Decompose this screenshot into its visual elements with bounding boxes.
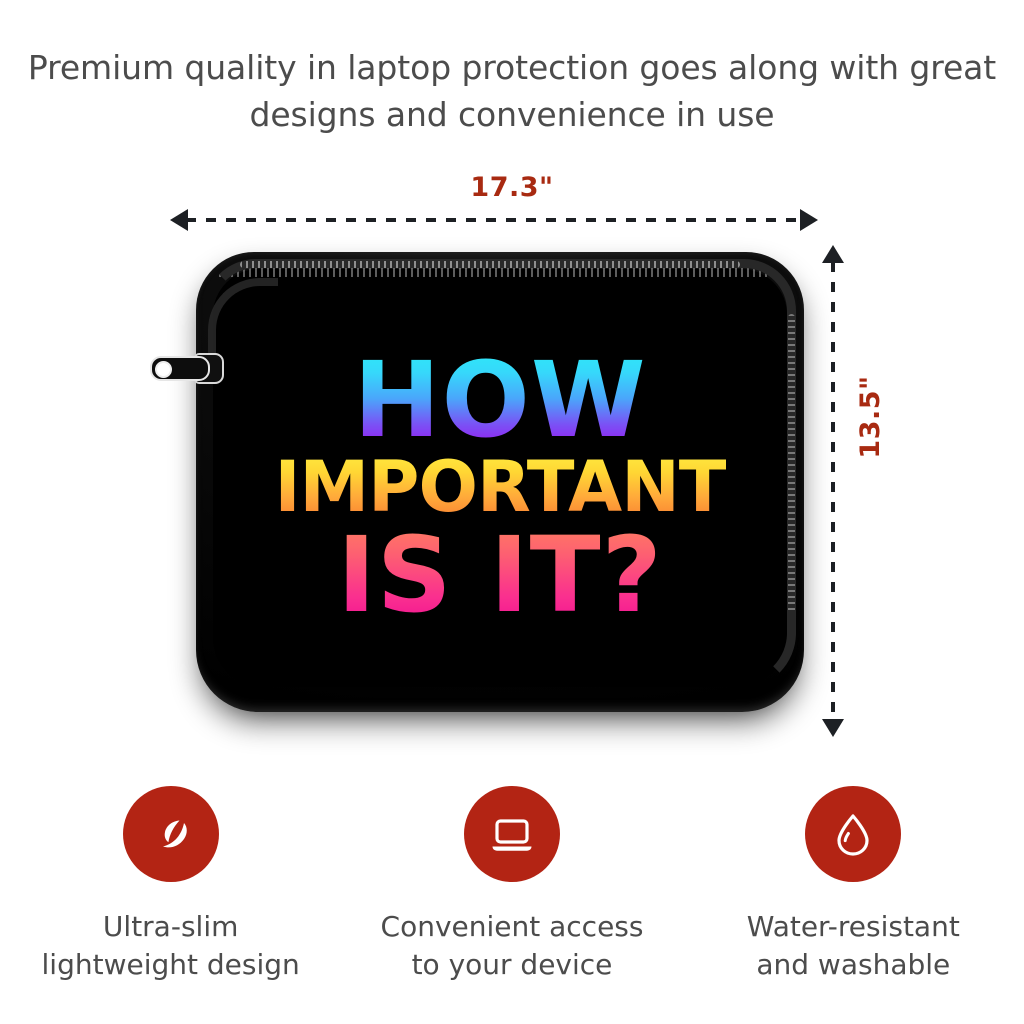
arrow-right-icon [800, 209, 818, 231]
feature-list: Ultra-slim lightweight design Convenient… [0, 786, 1024, 984]
width-dimension-label: 17.3" [0, 172, 1024, 203]
zipper-track [204, 259, 796, 689]
zipper-pull-hole [155, 361, 172, 378]
laptop-icon [464, 786, 560, 882]
arrow-down-icon [822, 719, 844, 737]
height-dimension-label: 13.5" [855, 352, 886, 482]
page-headline: Premium quality in laptop protection goe… [0, 44, 1024, 138]
feature-label-water-resistant: Water-resistant and washable [747, 908, 960, 984]
zipper-teeth-top [240, 261, 740, 268]
arrow-left-icon [170, 209, 188, 231]
feature-label-ultra-slim: Ultra-slim lightweight design [42, 908, 300, 984]
feature-item-convenient-access: Convenient access to your device [341, 786, 682, 984]
zipper-teeth-right [788, 314, 795, 614]
feather-icon [123, 786, 219, 882]
sleeve-body: HOW IMPORTANT IS IT? [196, 252, 804, 712]
arrow-up-icon [822, 245, 844, 263]
height-dimension-line [831, 262, 835, 724]
zipper-pull-icon [150, 352, 224, 382]
width-dimension-line [186, 218, 814, 222]
feature-item-water-resistant: Water-resistant and washable [683, 786, 1024, 984]
feature-label-convenient-access: Convenient access to your device [381, 908, 644, 984]
water-drop-icon [805, 786, 901, 882]
product-image-laptop-sleeve: HOW IMPORTANT IS IT? [196, 252, 804, 718]
feature-item-ultra-slim: Ultra-slim lightweight design [0, 786, 341, 984]
